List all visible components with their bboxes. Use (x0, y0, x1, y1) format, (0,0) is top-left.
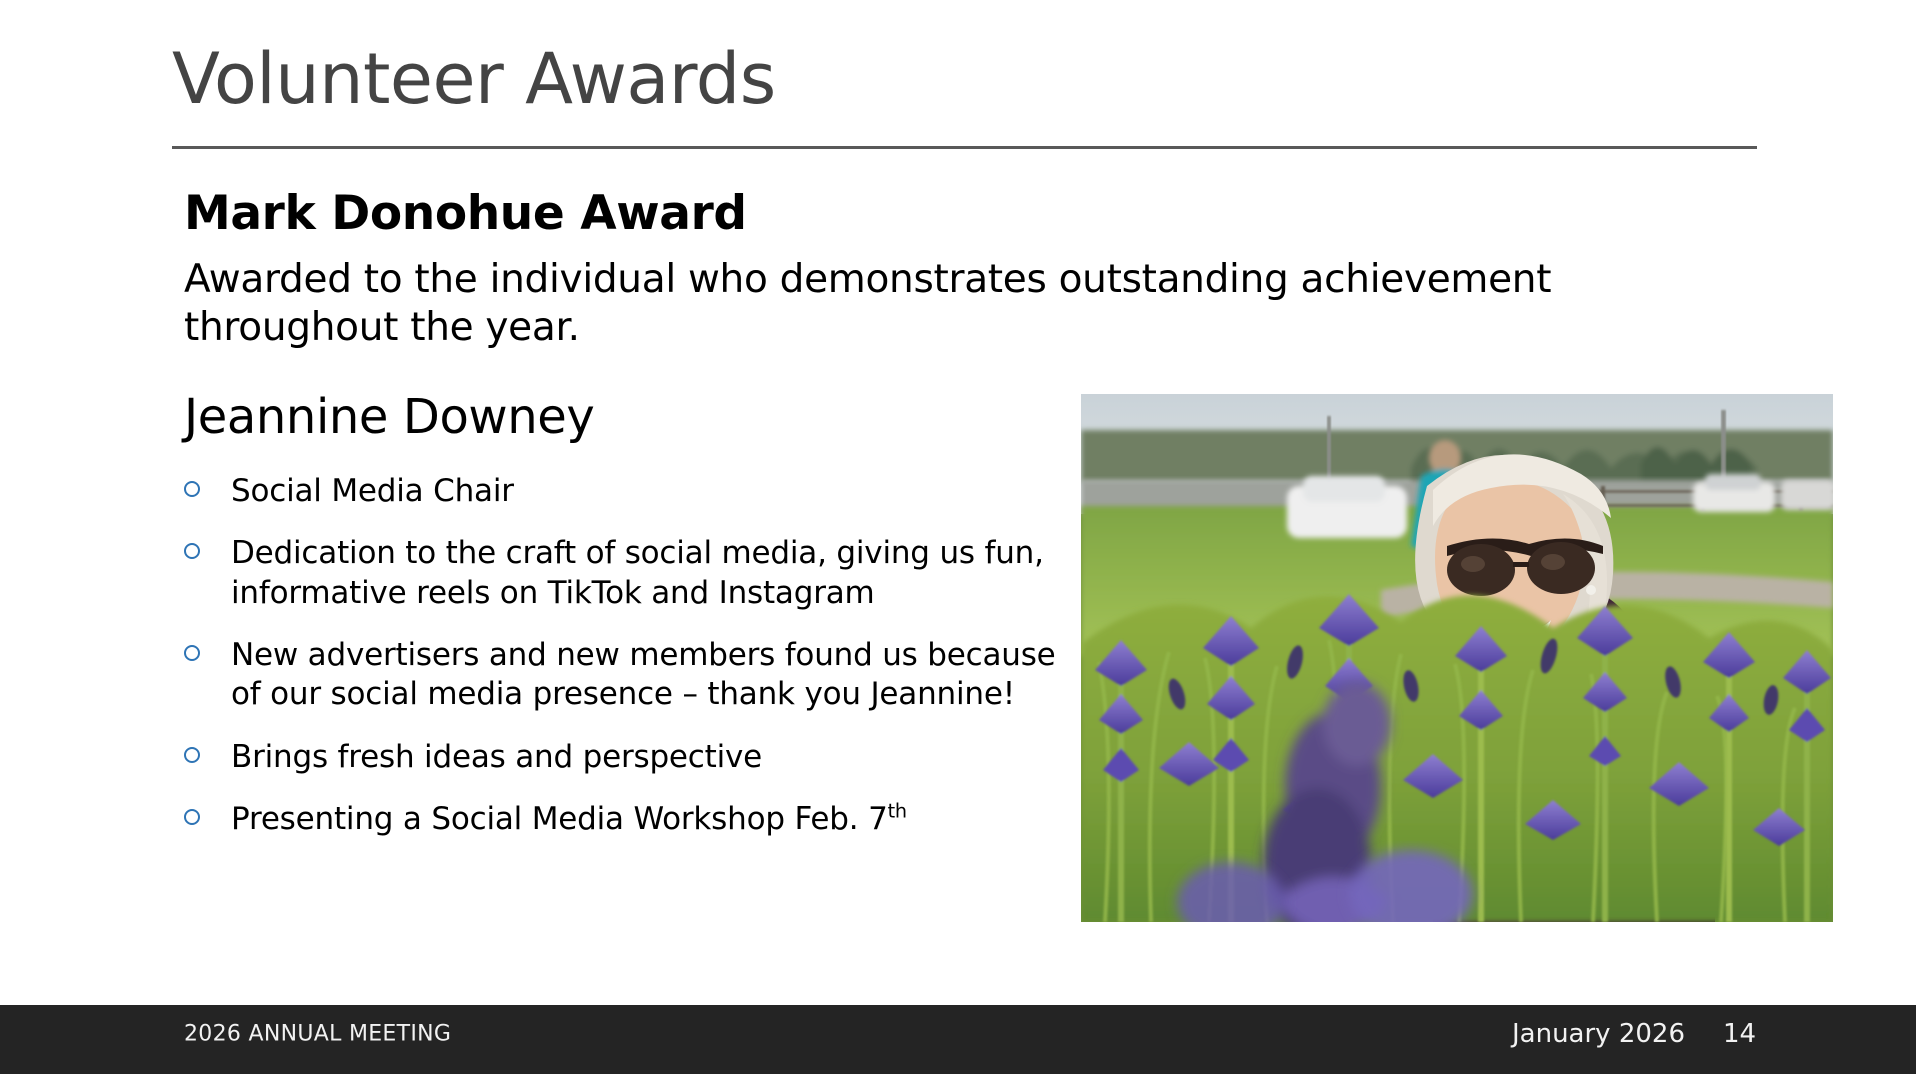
recipient-photo (1081, 394, 1833, 922)
list-item: Dedication to the craft of social media,… (184, 534, 1064, 613)
award-description: Awarded to the individual who demonstrat… (184, 256, 1584, 351)
footer-meeting-label: 2026 ANNUAL MEETING (184, 1022, 451, 1047)
list-item: Presenting a Social Media Workshop Feb. … (184, 800, 1064, 839)
page-title: Volunteer Awards (172, 44, 1757, 115)
list-item-label: Brings fresh ideas and perspective (231, 739, 762, 775)
ordinal-suffix: th (888, 800, 907, 823)
title-divider-rule (172, 146, 1757, 149)
footer-page-number: 14 (1723, 1019, 1756, 1049)
recipient-photo-image (1081, 394, 1833, 922)
footer-date: January 2026 (1512, 1019, 1685, 1049)
circle-bullet-icon (184, 481, 200, 497)
circle-bullet-icon (184, 543, 200, 559)
award-heading: Mark Donohue Award (184, 186, 747, 241)
recipient-name: Jeannine Downey (184, 389, 594, 445)
circle-bullet-icon (184, 809, 200, 825)
presentation-slide: Volunteer Awards Mark Donohue Award Awar… (0, 0, 1916, 1074)
camas-foreground (1081, 594, 1833, 922)
circle-bullet-icon (184, 747, 200, 763)
circle-bullet-icon (184, 645, 200, 661)
slide-title-block: Volunteer Awards (172, 44, 1757, 115)
award-bullet-list: Social Media ChairDedication to the craf… (184, 472, 1064, 840)
list-item-label: Dedication to the craft of social media,… (231, 535, 1044, 610)
list-item-label: Presenting a Social Media Workshop Feb. … (231, 801, 888, 837)
list-item: Brings fresh ideas and perspective (184, 738, 1064, 777)
list-item-label: Social Media Chair (231, 473, 514, 509)
list-item: New advertisers and new members found us… (184, 636, 1064, 715)
list-item-label: New advertisers and new members found us… (231, 637, 1056, 712)
list-item: Social Media Chair (184, 472, 1064, 511)
